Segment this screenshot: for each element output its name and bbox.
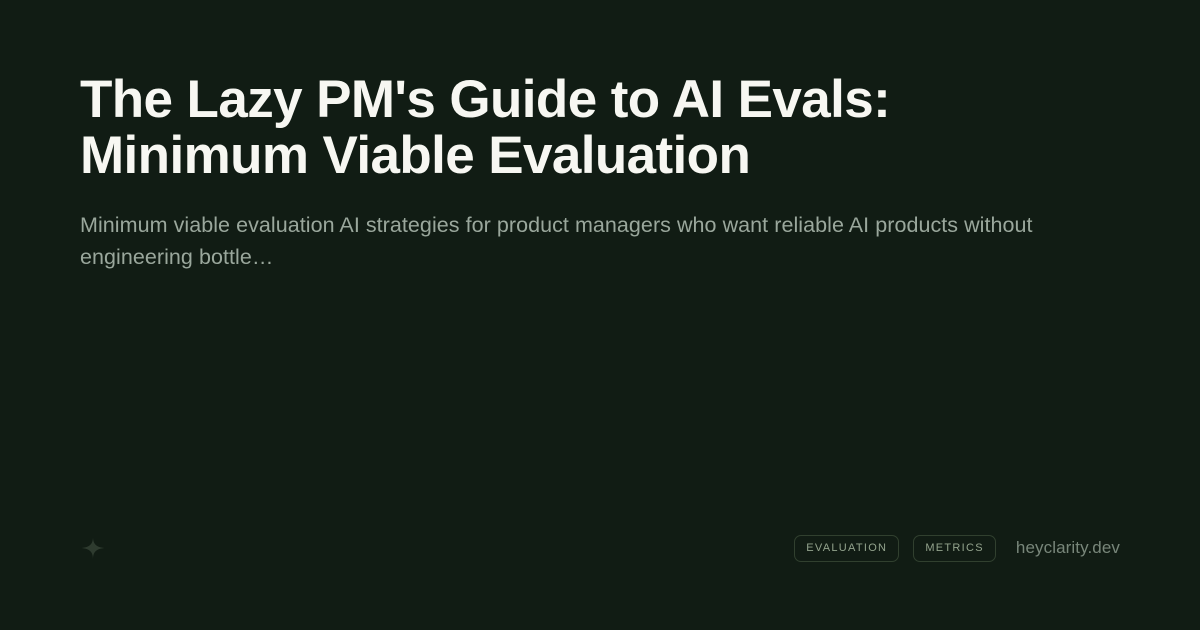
card-footer: EVALUATION METRICS heyclarity.dev — [80, 532, 1120, 564]
social-card: The Lazy PM's Guide to AI Evals: Minimum… — [0, 0, 1200, 630]
tag-metrics[interactable]: METRICS — [913, 535, 996, 562]
brand-logo — [80, 535, 106, 561]
tag-evaluation[interactable]: EVALUATION — [794, 535, 899, 562]
page-subtitle: Minimum viable evaluation AI strategies … — [80, 210, 1090, 272]
sparkle-diamond-icon — [80, 535, 106, 561]
page-title: The Lazy PM's Guide to AI Evals: Minimum… — [80, 72, 1070, 184]
footer-meta: EVALUATION METRICS heyclarity.dev — [794, 535, 1120, 562]
site-domain: heyclarity.dev — [1016, 538, 1120, 558]
card-content: The Lazy PM's Guide to AI Evals: Minimum… — [80, 72, 1090, 273]
